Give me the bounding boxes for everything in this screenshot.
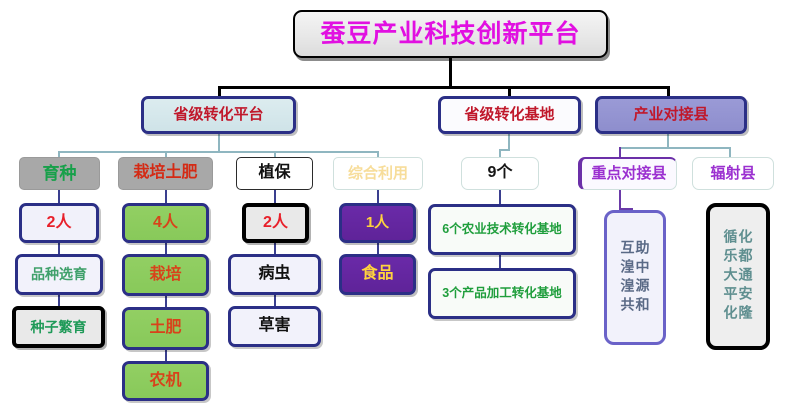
node-cultivation-soil-fertilizer[interactable]: 栽培土肥 <box>118 157 213 190</box>
node-industry-docking-county[interactable]: 产业对接县 <box>595 96 747 134</box>
connector-cultivation-1 <box>165 190 167 204</box>
connector-protection-1 <box>274 190 276 204</box>
node-soil-fertilizer[interactable]: 土肥 <box>122 307 209 350</box>
node-seed-propagation[interactable]: 种子繁育 <box>12 306 105 348</box>
diagram-title: 蚕豆产业科技创新平台 <box>293 10 608 58</box>
connector-utilization-1 <box>377 190 379 204</box>
radiating-county-column-left: 循乐大平化 <box>724 229 738 324</box>
connector-counties-stem <box>667 134 669 148</box>
node-utilization-staff-count[interactable]: 1人 <box>339 203 416 243</box>
connector-platform-stem <box>218 134 220 152</box>
node-plant-protection[interactable]: 植保 <box>236 157 313 190</box>
node-protection-staff-count[interactable]: 2人 <box>242 203 309 243</box>
connector-protection-3 <box>274 295 276 306</box>
node-food[interactable]: 食品 <box>339 254 416 295</box>
node-key-county-list[interactable]: 助中源和 互湟湟共 <box>604 210 666 345</box>
node-nine-units[interactable]: 9个 <box>461 157 539 190</box>
connector-keycounty-1 <box>619 190 621 210</box>
connector-breeding-1 <box>58 190 60 204</box>
connector-level2-bar <box>218 86 670 89</box>
connector-cultivation-2 <box>165 243 167 254</box>
node-pests-diseases[interactable]: 病虫 <box>228 254 321 295</box>
node-provincial-transform-platform[interactable]: 省级转化平台 <box>141 96 296 134</box>
node-radiating-county-list[interactable]: 化都通安隆 循乐大平化 <box>706 203 770 350</box>
node-six-agritech-transform-bases[interactable]: 6个农业技术转化基地 <box>428 204 576 255</box>
connector-breeding-2 <box>58 243 60 254</box>
node-weed-damage[interactable]: 草害 <box>228 306 321 347</box>
connector-cultivation-3 <box>165 296 167 307</box>
node-key-docking-county[interactable]: 重点对接县 <box>578 157 677 190</box>
connector-title-stem <box>449 58 452 88</box>
node-agricultural-machinery[interactable]: 农机 <box>122 361 209 401</box>
key-county-column-left: 互湟湟共 <box>621 240 635 316</box>
connector-utilization-2 <box>377 243 379 254</box>
key-county-vertical-text: 助中源和 互湟湟共 <box>607 213 663 342</box>
connector-nine-2 <box>499 255 501 268</box>
node-breeding[interactable]: 育种 <box>19 157 100 190</box>
key-county-column-right: 助中源和 <box>636 240 650 316</box>
diagram-canvas: 蚕豆产业科技创新平台 省级转化平台 省级转化基地 产业对接县 育种 栽培土肥 植… <box>0 0 800 409</box>
radiating-county-vertical-text: 化都通安隆 循乐大平化 <box>710 207 766 346</box>
node-three-product-processing-bases[interactable]: 3个产品加工转化基地 <box>428 268 576 319</box>
node-provincial-transform-base[interactable]: 省级转化基地 <box>438 96 581 134</box>
node-cultivation[interactable]: 栽培 <box>122 254 209 296</box>
connector-base-stem <box>508 134 510 150</box>
connector-breeding-3 <box>58 295 60 306</box>
connector-nine-1 <box>499 190 501 204</box>
node-breeding-staff-count[interactable]: 2人 <box>19 203 99 243</box>
connector-protection-2 <box>274 243 276 254</box>
node-variety-selection[interactable]: 品种选育 <box>15 254 103 295</box>
radiating-county-column-right: 化都通安隆 <box>739 229 753 324</box>
node-comprehensive-utilization[interactable]: 综合利用 <box>333 157 423 190</box>
connector-platform-bar <box>58 151 378 153</box>
connector-cultivation-4 <box>165 350 167 361</box>
node-cultivation-staff-count[interactable]: 4人 <box>122 203 209 243</box>
node-radiating-county[interactable]: 辐射县 <box>692 157 774 190</box>
connector-counties-bar <box>619 147 730 149</box>
